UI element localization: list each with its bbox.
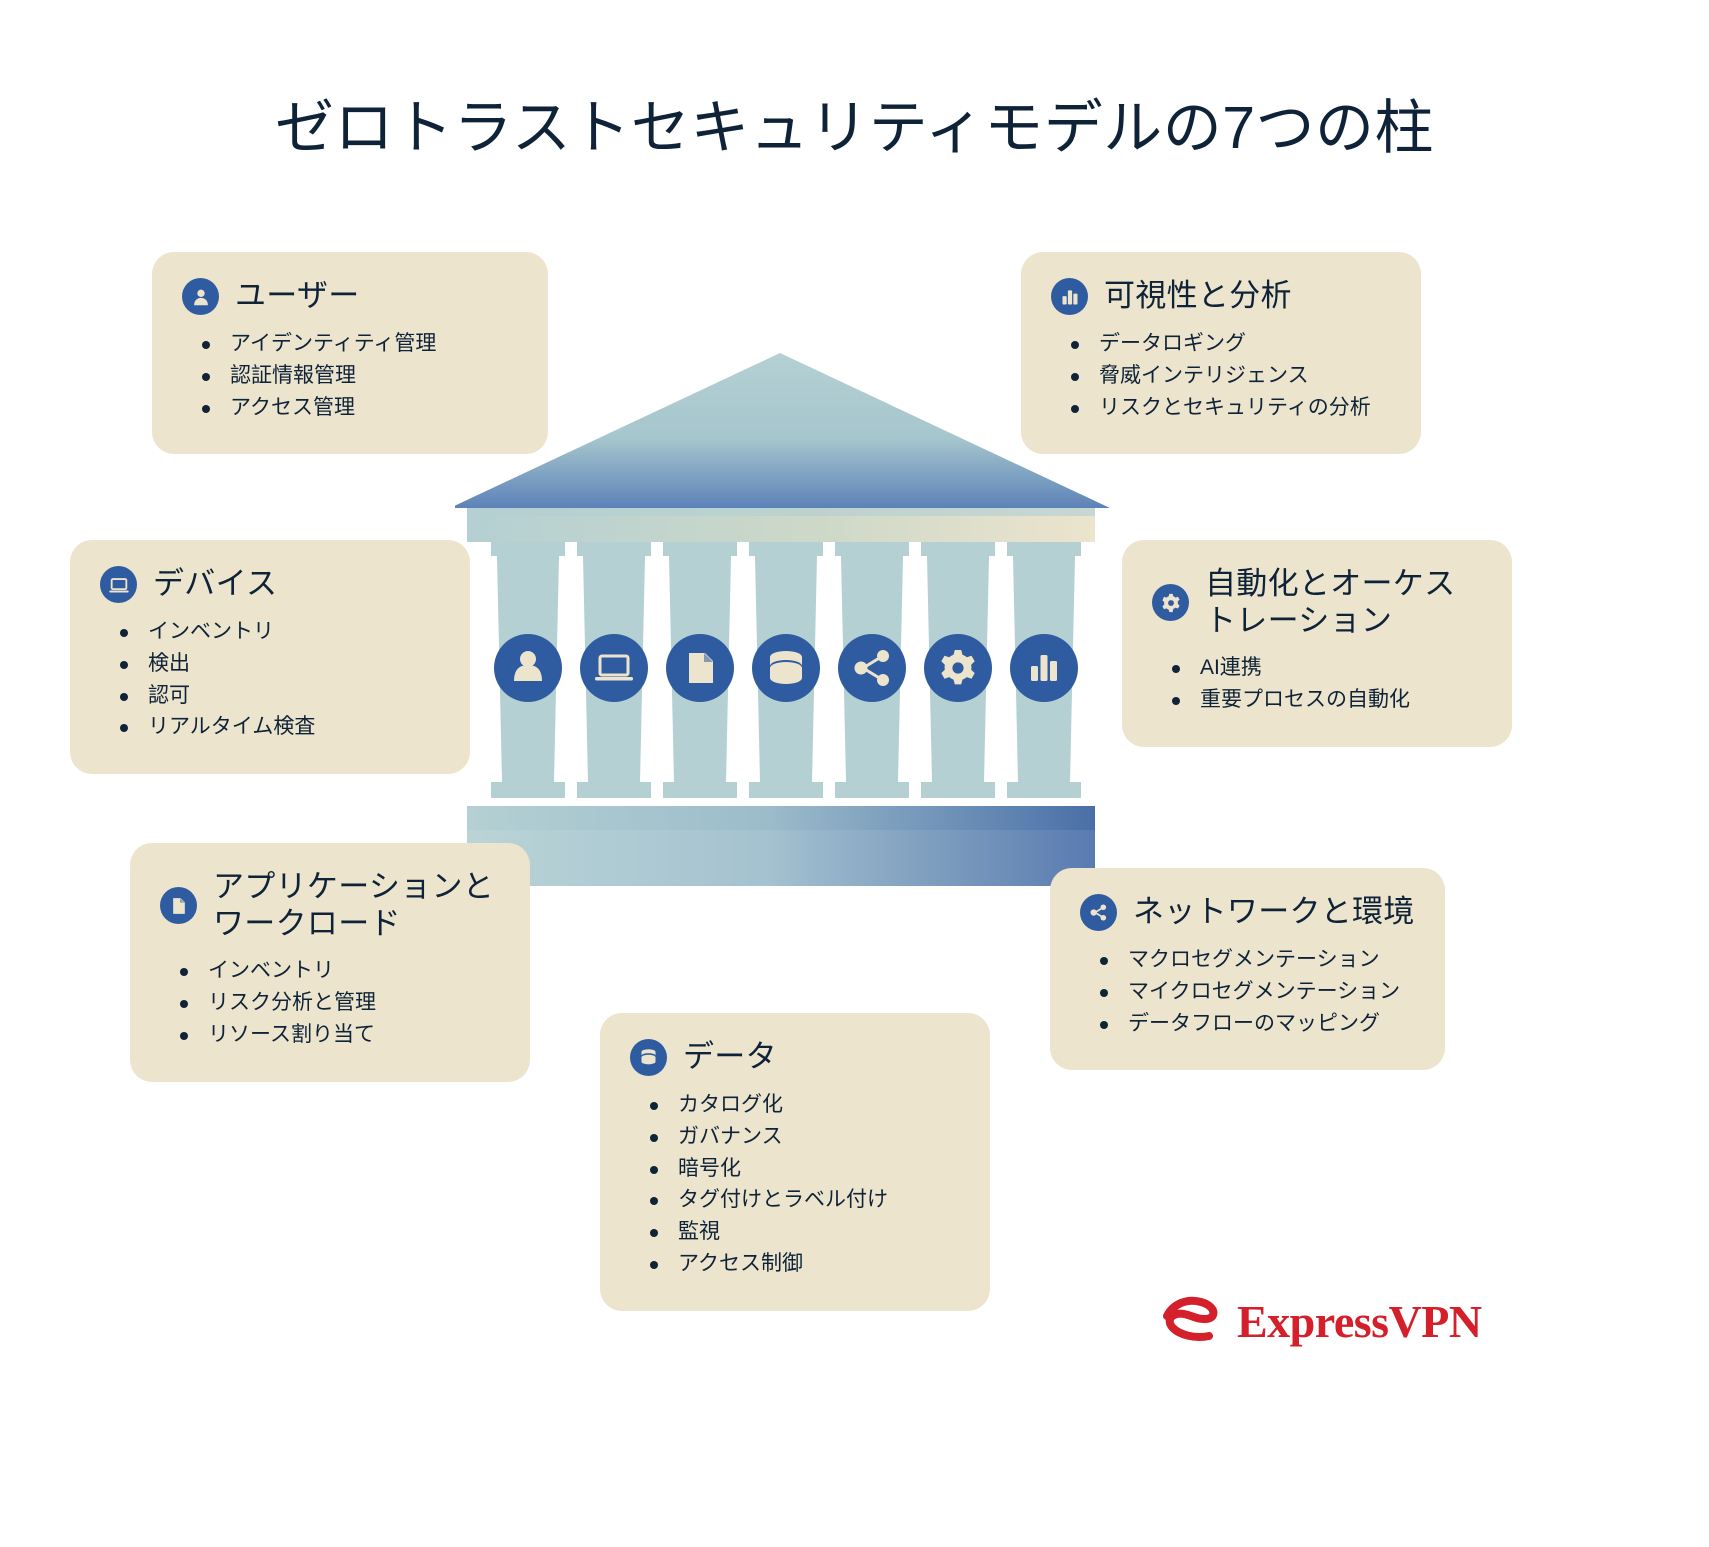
card-title: アプリケーションとワークロード: [213, 869, 500, 942]
document-icon: [160, 887, 197, 924]
list-item: 認証情報管理: [190, 361, 518, 391]
card-header: ユーザー: [182, 278, 518, 315]
list-item: 重要プロセスの自動化: [1160, 685, 1482, 715]
card-header: デバイス: [100, 566, 440, 603]
card-header: データ: [630, 1039, 960, 1076]
gear-icon: [1152, 584, 1189, 621]
list-item: 検出: [108, 649, 440, 679]
share-nodes-icon: [1080, 894, 1117, 931]
card-header: 自動化とオーケストレーション: [1152, 566, 1482, 639]
card-data[interactable]: データ カタログ化 ガバナンス 暗号化 タグ付けとラベル付け 監視 アクセス制御: [600, 1013, 990, 1311]
list-item: 暗号化: [638, 1154, 960, 1184]
expressvpn-e-mark-icon: [1163, 1292, 1225, 1351]
list-item: AI連携: [1160, 653, 1482, 683]
list-item: アクセス管理: [190, 393, 518, 423]
list-item: 認可: [108, 681, 440, 711]
card-visibility-analytics[interactable]: 可視性と分析 データロギング 脅威インテリジェンス リスクとセキュリティの分析: [1021, 252, 1421, 454]
card-title: 可視性と分析: [1104, 278, 1292, 315]
logo-text: ExpressVPN: [1237, 1295, 1482, 1348]
database-icon: [630, 1039, 667, 1076]
list-item: マクロセグメンテーション: [1088, 945, 1415, 975]
card-item-list: カタログ化 ガバナンス 暗号化 タグ付けとラベル付け 監視 アクセス制御: [630, 1090, 960, 1279]
bar-chart-icon: [1051, 278, 1088, 315]
list-item: データフローのマッピング: [1088, 1009, 1415, 1039]
card-item-list: マクロセグメンテーション マイクロセグメンテーション データフローのマッピング: [1080, 945, 1415, 1038]
card-application-workload[interactable]: アプリケーションとワークロード インベントリ リスク分析と管理 リソース割り当て: [130, 843, 530, 1082]
pillar-icon-laptop: [580, 634, 648, 702]
laptop-icon: [100, 566, 137, 603]
card-users[interactable]: ユーザー アイデンティティ管理 認証情報管理 アクセス管理: [152, 252, 548, 454]
pillar-icon-share-nodes: [838, 634, 906, 702]
list-item: アクセス制御: [638, 1249, 960, 1279]
list-item: 脅威インテリジェンス: [1059, 361, 1391, 391]
card-devices[interactable]: デバイス インベントリ 検出 認可 リアルタイム検査: [70, 540, 470, 774]
list-item: リスクとセキュリティの分析: [1059, 393, 1391, 423]
list-item: リアルタイム検査: [108, 712, 440, 742]
list-item: 監視: [638, 1217, 960, 1247]
card-automation-orchestration[interactable]: 自動化とオーケストレーション AI連携 重要プロセスの自動化: [1122, 540, 1512, 747]
user-icon: [182, 278, 219, 315]
card-title: データ: [683, 1039, 777, 1076]
list-item: ガバナンス: [638, 1122, 960, 1152]
list-item: データロギング: [1059, 329, 1391, 359]
page-title: ゼロトラストセキュリティモデルの7つの柱: [0, 95, 1709, 163]
card-header: 可視性と分析: [1051, 278, 1391, 315]
card-title: ユーザー: [235, 278, 360, 315]
list-item: リスク分析と管理: [168, 988, 500, 1018]
list-item: カタログ化: [638, 1090, 960, 1120]
card-item-list: データロギング 脅威インテリジェンス リスクとセキュリティの分析: [1051, 329, 1391, 422]
list-item: タグ付けとラベル付け: [638, 1185, 960, 1215]
list-item: インベントリ: [108, 617, 440, 647]
list-item: リソース割り当て: [168, 1020, 500, 1050]
card-header: アプリケーションとワークロード: [160, 869, 500, 942]
card-header: ネットワークと環境: [1080, 894, 1415, 931]
list-item: アイデンティティ管理: [190, 329, 518, 359]
card-item-list: AI連携 重要プロセスの自動化: [1152, 653, 1482, 715]
expressvpn-logo[interactable]: ExpressVPN: [1163, 1292, 1482, 1351]
card-network-environment[interactable]: ネットワークと環境 マクロセグメンテーション マイクロセグメンテーション データ…: [1050, 868, 1445, 1070]
card-title: 自動化とオーケストレーション: [1205, 566, 1482, 639]
list-item: インベントリ: [168, 956, 500, 986]
card-item-list: インベントリ 検出 認可 リアルタイム検査: [100, 617, 440, 742]
list-item: マイクロセグメンテーション: [1088, 977, 1415, 1007]
card-title: デバイス: [153, 566, 277, 603]
card-item-list: インベントリ リスク分析と管理 リソース割り当て: [160, 956, 500, 1049]
card-item-list: アイデンティティ管理 認証情報管理 アクセス管理: [182, 329, 518, 422]
card-title: ネットワークと環境: [1133, 894, 1415, 931]
